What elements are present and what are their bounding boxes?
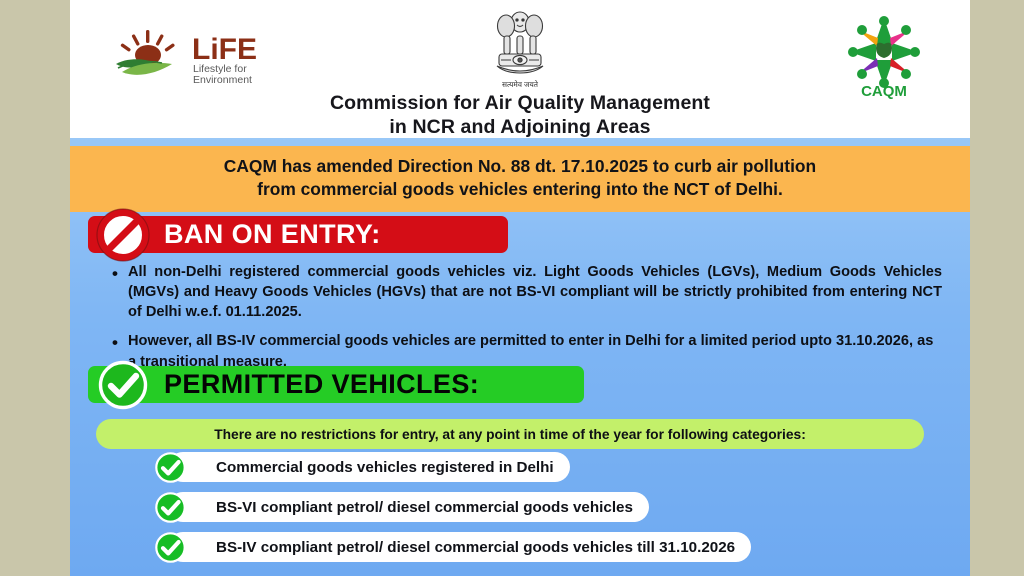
list-item: Commercial goods vehicles registered in … [168, 452, 968, 482]
permitted-vehicles-banner: PERMITTED VEHICLES: [88, 366, 584, 403]
permitted-vehicle-list: Commercial goods vehicles registered in … [168, 452, 968, 572]
bullet-marker: • [112, 262, 128, 285]
check-circle-icon [154, 531, 187, 564]
caqm-logo-icon: CAQM [836, 14, 932, 102]
check-circle-icon [154, 491, 187, 524]
check-circle-icon [96, 358, 150, 412]
notice-line-1: CAQM has amended Direction No. 88 dt. 17… [96, 155, 944, 178]
permitted-subnote: There are no restrictions for entry, at … [96, 419, 924, 449]
emblem-motto: सत्यमेव जयते [502, 80, 539, 89]
list-item-label: BS-IV compliant petrol/ diesel commercia… [168, 532, 751, 562]
national-emblem-icon: सत्यमेव जयते [488, 8, 552, 94]
org-title-line-1: Commission for Air Quality Management [70, 92, 970, 116]
list-item-label: BS-VI compliant petrol/ diesel commercia… [168, 492, 649, 522]
ban-on-entry-banner: BAN ON ENTRY: [88, 216, 508, 253]
check-circle-icon [154, 451, 187, 484]
list-item: • All non-Delhi registered commercial go… [112, 262, 942, 322]
org-title-line-2: in NCR and Adjoining Areas [70, 116, 970, 140]
amendment-notice: CAQM has amended Direction No. 88 dt. 17… [70, 146, 970, 212]
ban-on-entry-heading: BAN ON ENTRY: [164, 219, 381, 250]
poster-header: LiFE Lifestyle for Environment [70, 0, 970, 138]
ban-bullet-list: • All non-Delhi registered commercial go… [112, 262, 942, 381]
bullet-text: All non-Delhi registered commercial good… [128, 262, 942, 322]
page-title: Commission for Air Quality Management in… [70, 92, 970, 140]
life-logo-icon: LiFE Lifestyle for Environment [112, 28, 272, 90]
no-entry-icon [96, 208, 150, 262]
list-item-label: Commercial goods vehicles registered in … [168, 452, 570, 482]
life-tagline-2: Environment [193, 74, 252, 86]
bullet-marker: • [112, 331, 128, 354]
permitted-vehicles-heading: PERMITTED VEHICLES: [164, 369, 479, 400]
poster: LiFE Lifestyle for Environment [70, 0, 970, 576]
notice-line-2: from commercial goods vehicles entering … [96, 178, 944, 201]
life-wordmark: LiFE [192, 33, 257, 66]
list-item: BS-VI compliant petrol/ diesel commercia… [168, 492, 968, 522]
list-item: BS-IV compliant petrol/ diesel commercia… [168, 532, 968, 562]
